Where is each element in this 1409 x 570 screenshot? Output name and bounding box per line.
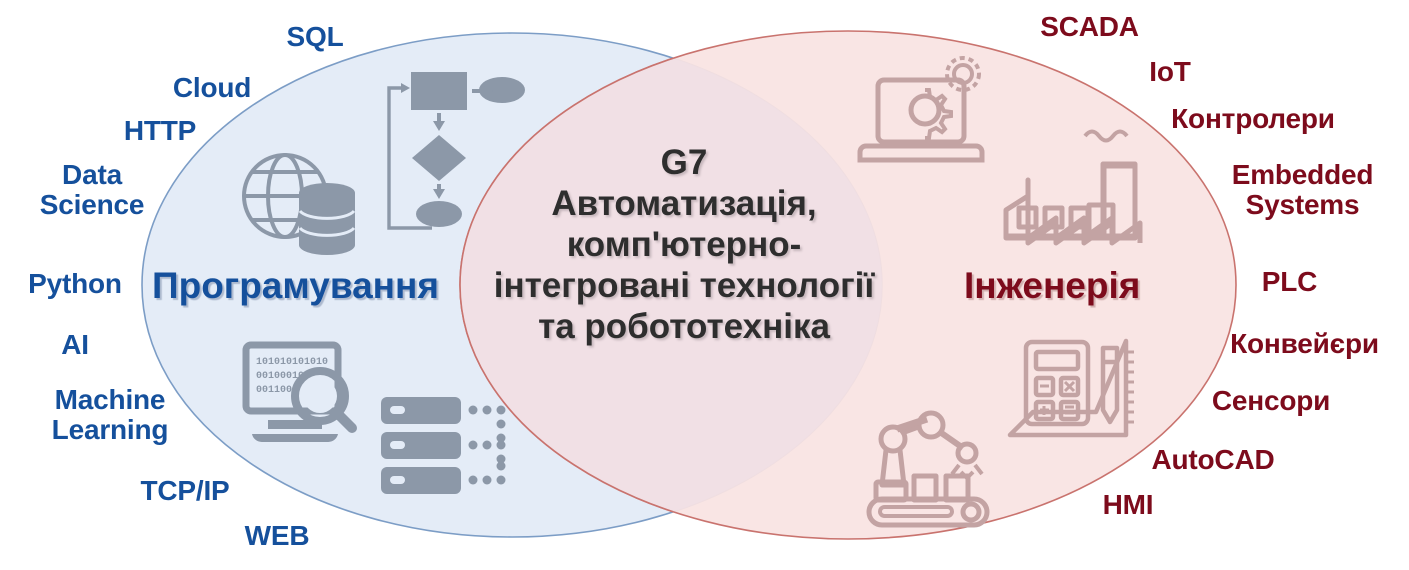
left-keyword-0: SQL (255, 22, 375, 52)
right-keyword-2: Контролери (1153, 104, 1353, 134)
binary-line-1: 101010101010 (256, 357, 328, 368)
left-keyword-5: AI (35, 330, 115, 360)
venn-diagram-canvas: 101010101010 001000100 0011001 (0, 0, 1409, 570)
left-keyword-4: Python (10, 269, 140, 299)
left-keyword-6: Machine Learning (30, 385, 190, 444)
left-keyword-7: TCP/IP (120, 476, 250, 506)
left-keyword-1: Cloud (152, 73, 272, 103)
left-keyword-8: WEB (222, 521, 332, 551)
server-rack-icon (381, 397, 506, 494)
left-keyword-2: HTTP (100, 116, 220, 146)
right-keyword-1: IoT (1125, 57, 1215, 87)
left-circle-title: Програмування (152, 267, 439, 304)
right-keyword-6: Сенсори (1196, 386, 1346, 416)
right-keyword-0: SCADA (1022, 12, 1157, 42)
right-keyword-8: HMI (1078, 490, 1178, 520)
right-keyword-5: Конвейєри (1212, 329, 1397, 359)
left-keyword-3: Data Science (22, 160, 162, 219)
right-keyword-4: PLC (1242, 267, 1337, 297)
right-keyword-7: AutoCAD (1133, 445, 1293, 475)
right-circle-title: Інженерія (964, 267, 1140, 304)
right-keyword-3: Embedded Systems (1210, 160, 1395, 219)
center-overlap-title: G7 Автоматизація, комп'ютерно- інтегрова… (460, 143, 908, 348)
